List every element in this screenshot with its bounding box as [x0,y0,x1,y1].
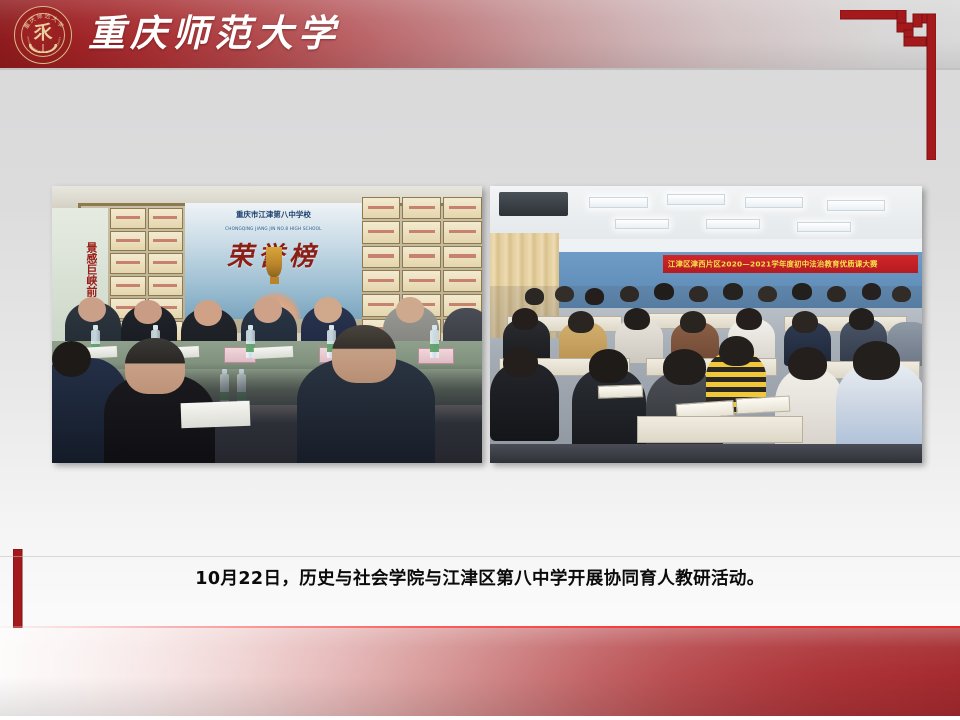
university-name-title: 重庆师范大学 [88,9,340,57]
certificate-plaque [148,276,184,297]
open-textbook [598,385,644,400]
student-desk-front [637,416,803,443]
foreground-document [181,401,251,428]
student-head [892,286,911,303]
student-head [853,341,901,380]
competition-banner-text: 江津区津西片区2020—2021学年度初中法治教育优质课大赛 [668,260,913,269]
trophy-icon [266,247,282,277]
student-head [620,286,639,303]
certificate-plaque [362,221,401,243]
university-emblem-icon: 重庆师范大学 CHONGQING NORMAL UNIVERSITY 乑 [14,6,72,64]
student-head [680,311,706,333]
student-head [589,349,628,382]
corner-bracket-top-right-icon [840,10,936,160]
header-divider [0,68,960,70]
attendee-head [254,297,282,323]
ceiling-light [667,194,725,205]
student-head [654,283,673,300]
certificate-plaque [110,208,146,228]
student-head [849,308,875,330]
certificate-plaque [362,246,401,268]
attendee-head [194,300,222,326]
classroom-wall-upper [550,239,922,253]
certificate-plaque [402,221,441,243]
document-paper [254,346,293,359]
water-bottle [430,330,439,358]
student-head [525,288,544,305]
ceiling-light [615,219,669,229]
attendee-head [396,297,424,323]
certificate-plaque [110,231,146,252]
certificate-plaque [110,276,146,297]
student-head [792,311,818,333]
ceiling-light [706,219,760,229]
emblem-open-book-icon [29,44,57,53]
student-head [736,308,762,330]
foreground-attendee-head [125,338,185,393]
student-head [827,286,846,303]
ceiling-light [797,222,851,232]
certificate-plaque [402,270,441,292]
certificate-plaque [402,246,441,268]
student-head [568,311,594,333]
attendee-head [134,300,162,325]
school-banner-title: 重庆市江津第八中学校 [203,210,344,219]
school-banner-subtitle: CHONGQING JIANG JIN NO.8 HIGH SCHOOL [196,226,351,232]
student-head [503,347,538,377]
slide-bottom-edge [0,716,960,720]
meeting-photo[interactable]: 景感巨峡前口 重庆市江津第八中学校 CHONGQING JIANG JIN NO… [52,186,482,463]
caption-divider [0,556,960,557]
student-head [663,349,706,385]
competition-banner: 江津区津西片区2020—2021学年度初中法治教育优质课大赛 [663,255,918,273]
emblem-center-glyph: 乑 [33,23,52,42]
student-head [555,286,574,303]
student-head [719,336,754,366]
foreground-attendee-head [332,325,397,383]
certificate-plaque [110,253,146,273]
certificate-plaque [443,270,482,292]
classroom-floor [490,444,922,463]
certificate-plaque [402,197,441,219]
ceiling-light [589,197,647,208]
classroom-photo[interactable]: 江津区津西片区2020—2021学年度初中法治教育优质课大赛 [490,186,922,463]
certificate-plaque [148,253,184,273]
slide-caption: 10月22日，历史与社会学院与江津区第八中学开展协同育人教研活动。 [0,566,960,592]
foreground-attendee-head [52,341,91,377]
student-head [689,286,708,303]
student-head [585,288,604,305]
certificate-plaque [362,270,401,292]
student-head [788,347,827,380]
air-conditioner [499,192,568,217]
attendee-head [78,297,106,322]
student-head [862,283,881,300]
student-head [624,308,650,330]
student-head [723,283,742,300]
open-textbook [736,395,791,414]
presentation-slide: 重庆师范大学 CHONGQING NORMAL UNIVERSITY 乑 重庆师… [0,0,960,720]
certificate-plaque [362,197,401,219]
student-head [792,283,811,300]
student-head [758,286,777,303]
certificate-plaque [443,197,482,219]
certificate-plaque [443,221,482,243]
student-head [512,308,538,330]
certificate-plaque [443,246,482,268]
ceiling-light [827,200,885,211]
ceiling-light [745,197,803,208]
certificate-plaque [148,208,184,228]
certificate-plaque [148,231,184,252]
footer-banner [0,628,960,716]
